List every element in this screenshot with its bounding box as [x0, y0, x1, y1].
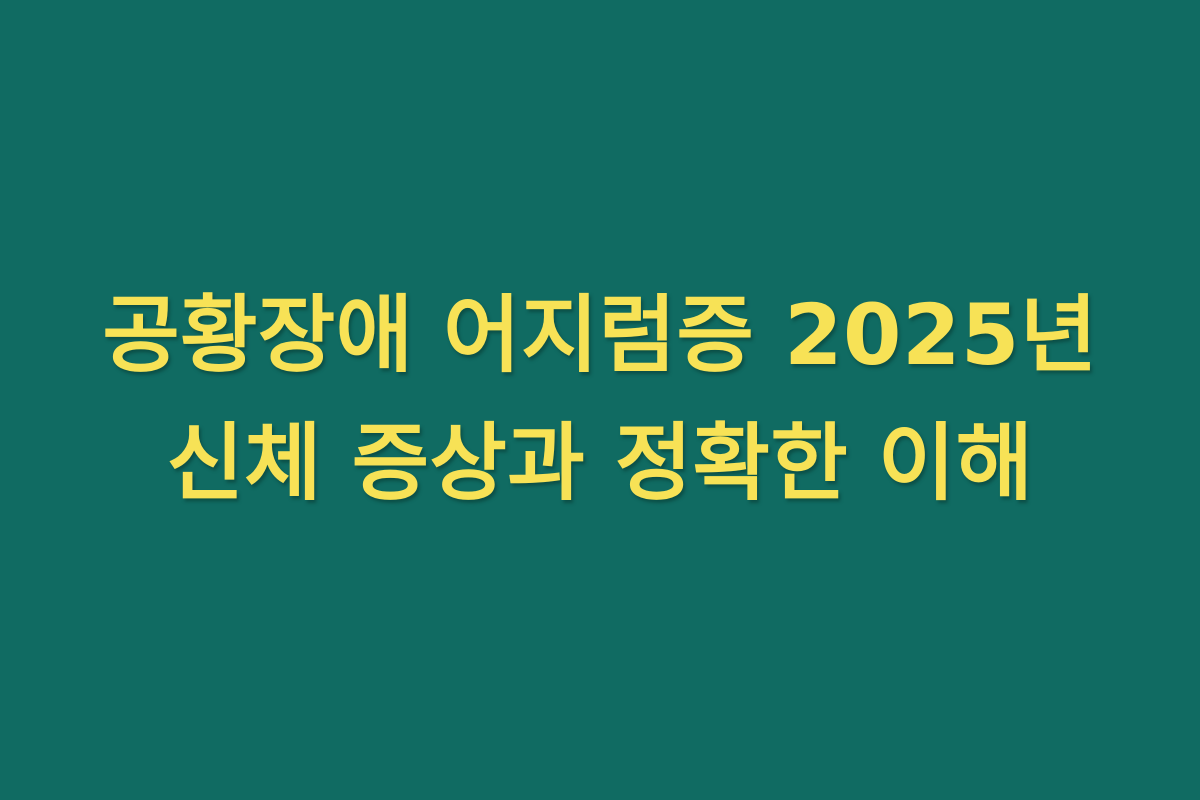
page-title: 공황장애 어지럼증 2025년 신체 증상과 정확한 이해: [78, 272, 1122, 527]
title-card-canvas: 공황장애 어지럼증 2025년 신체 증상과 정확한 이해: [0, 0, 1200, 800]
headline-block: 공황장애 어지럼증 2025년 신체 증상과 정확한 이해: [78, 272, 1122, 527]
